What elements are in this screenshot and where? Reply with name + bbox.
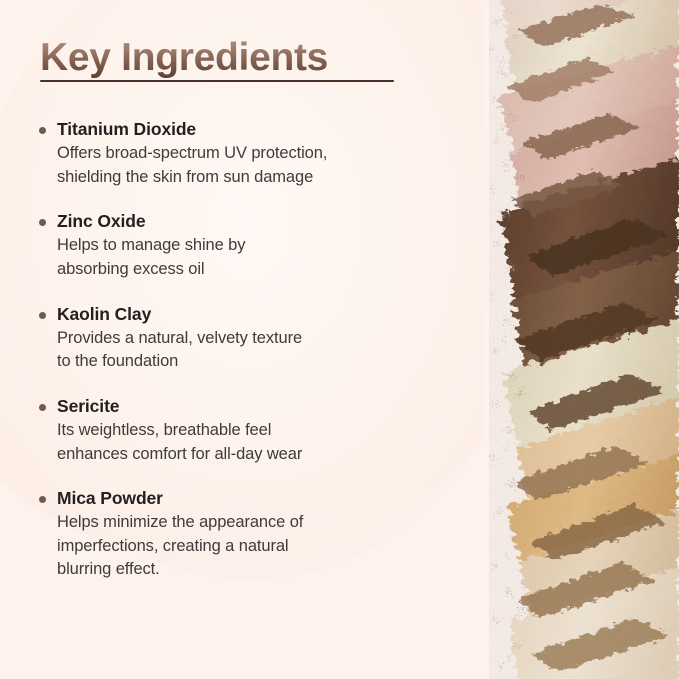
- ingredient-description: Helps minimize the appearance of imperfe…: [57, 511, 450, 582]
- ingredient-name: Zinc Oxide: [57, 210, 450, 233]
- ingredient-description: Offers broad-spectrum UV protection, shi…: [57, 142, 450, 189]
- list-item: Zinc Oxide Helps to manage shine by abso…: [38, 210, 450, 281]
- title-underline: [40, 80, 394, 82]
- list-item: Mica Powder Helps minimize the appearanc…: [38, 487, 450, 582]
- powder-swatch-image: [483, 0, 679, 679]
- poster-canvas: Key Ingredients Titanium Dioxide Offers …: [0, 0, 679, 679]
- ingredient-name: Mica Powder: [57, 487, 450, 510]
- bullet-icon: [39, 404, 46, 411]
- list-item: Kaolin Clay Provides a natural, velvety …: [38, 303, 450, 374]
- list-item: Titanium Dioxide Offers broad-spectrum U…: [38, 118, 450, 189]
- page-title-block: Key Ingredients: [40, 38, 394, 82]
- ingredients-list: Titanium Dioxide Offers broad-spectrum U…: [38, 118, 450, 582]
- ingredient-description: Helps to manage shine by absorbing exces…: [57, 234, 450, 281]
- list-item: Sericite Its weightless, breathable feel…: [38, 395, 450, 466]
- ingredients-panel: Key Ingredients Titanium Dioxide Offers …: [0, 0, 470, 679]
- ingredient-description: Provides a natural, velvety texture to t…: [57, 327, 450, 374]
- bullet-icon: [39, 127, 46, 134]
- ingredient-description: Its weightless, breathable feel enhances…: [57, 419, 450, 466]
- page-title: Key Ingredients: [40, 38, 394, 79]
- ingredient-name: Titanium Dioxide: [57, 118, 450, 141]
- bullet-icon: [39, 219, 46, 226]
- bullet-icon: [39, 312, 46, 319]
- ingredient-name: Kaolin Clay: [57, 303, 450, 326]
- ingredient-name: Sericite: [57, 395, 450, 418]
- bullet-icon: [39, 496, 46, 503]
